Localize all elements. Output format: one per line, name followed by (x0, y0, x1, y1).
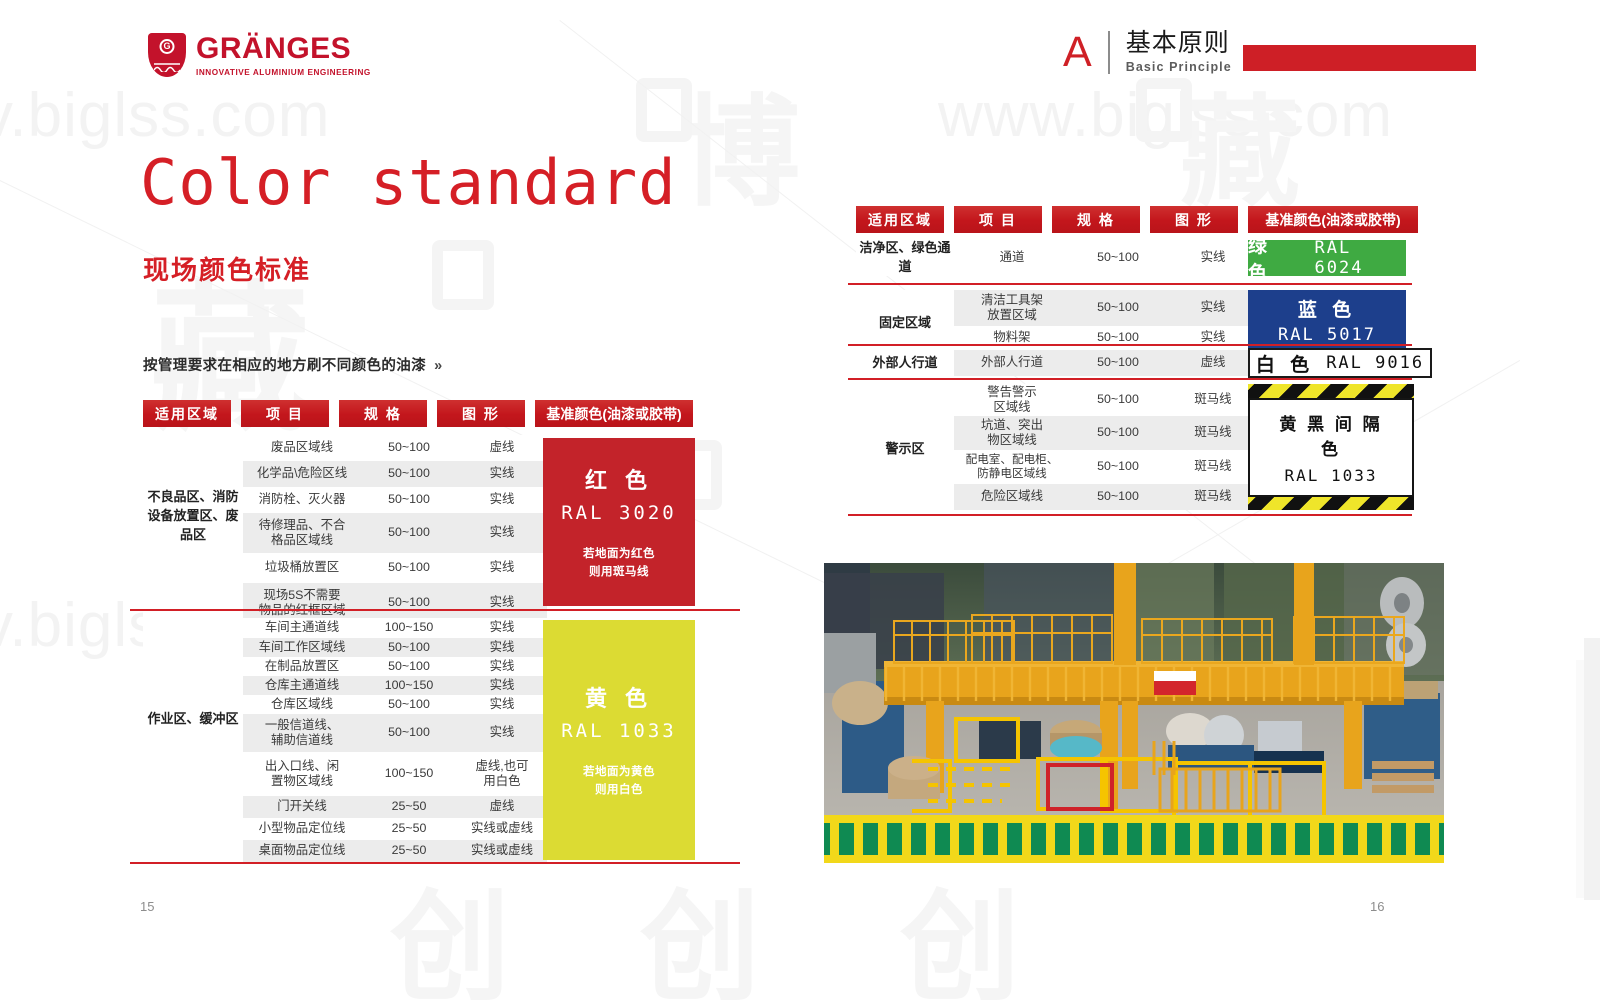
section-divider-blue (848, 344, 1412, 346)
swatch-name: 红 色 (585, 463, 653, 495)
header-color: 基准颜色(油漆或胶带) (535, 400, 693, 427)
cell-spec: 50~100 (1070, 450, 1166, 484)
cell-item: 通道 (954, 240, 1070, 276)
shield-icon: G (148, 33, 186, 77)
cell-item: 现场5S不需要 物品的红框区域 (243, 583, 361, 623)
cell-spec: 50~100 (361, 513, 457, 553)
color-swatch-red: 红 色 RAL 3020 若地面为红色 则用斑马线 (543, 438, 695, 606)
section-divider-green (848, 283, 1412, 285)
cell-spec: 25~50 (361, 796, 457, 818)
hazard-label-box: 黄 黑 间 隔 色 RAL 1033 (1248, 398, 1414, 497)
section-title-en: Basic Principle (1126, 60, 1232, 74)
section-area-label-yellow: 作业区、缓冲区 (143, 710, 243, 729)
cell-item: 出入口线、闲 置物区域线 (243, 752, 361, 796)
logo-tagline: INNOVATIVE ALUMINIUM ENGINEERING (196, 68, 371, 77)
cell-shape: 实线 (457, 513, 547, 553)
section-divider-hazard (848, 514, 1412, 516)
cell-spec: 50~100 (361, 695, 457, 714)
cell-area (143, 796, 243, 818)
cell-area: 外部人行道 (856, 350, 954, 376)
cell-item: 桌面物品定位线 (243, 840, 361, 862)
brochure-spread: v.biglss.com www.biglss.com v.biglss.com… (0, 0, 1600, 1000)
cell-item: 垃圾桶放置区 (243, 553, 361, 583)
cell-area (143, 752, 243, 796)
cell-spec: 50~100 (361, 553, 457, 583)
cell-shape: 实线 (457, 618, 547, 638)
section-header: A 基本原则 Basic Principle (1063, 30, 1232, 74)
cell-spec: 25~50 (361, 818, 457, 840)
cell-area (143, 657, 243, 676)
table-row: 小型物品定位线 25~50 实线或虚线 (143, 818, 547, 840)
cell-item: 物料架 (954, 326, 1070, 350)
table-section-yellow: 车间主通道线 100~150 实线 车间工作区域线 50~100 实线 在制品放… (143, 618, 547, 862)
header-divider (1108, 31, 1110, 74)
chevron-right-icon: » (434, 358, 442, 374)
header-area: 适用区域 (143, 400, 231, 427)
cell-spec: 25~50 (361, 840, 457, 862)
cell-spec: 50~100 (1070, 290, 1166, 326)
swatch-ral: RAL 5017 (1278, 325, 1376, 345)
brand-logo: G GRÄNGES INNOVATIVE ALUMINIUM ENGINEERI… (148, 33, 371, 77)
cell-item: 在制品放置区 (243, 657, 361, 676)
table-section-green: 洁净区、绿色通道 通道 50~100 实线 (856, 240, 1260, 276)
cell-area: 洁净区、绿色通道 (856, 240, 954, 276)
left-table-header: 适用区域 项 目 规 格 图 形 基准颜色(油漆或胶带) (143, 400, 693, 427)
cell-item: 警告警示 区域线 (954, 384, 1070, 416)
header-shape: 图 形 (437, 400, 525, 427)
header-spec: 规 格 (1052, 206, 1140, 233)
cell-area (143, 461, 243, 487)
caption-text: 按管理要求在相应的地方刷不同颜色的油漆 (143, 358, 426, 374)
cell-item: 门开关线 (243, 796, 361, 818)
swatch-ral: RAL 3020 (561, 502, 677, 524)
cell-shape: 虚线,也可 用白色 (457, 752, 547, 796)
table-row: 现场5S不需要 物品的红框区域 50~100 实线 (143, 583, 547, 623)
page-edge-strip-2 (1576, 660, 1584, 898)
cell-shape: 实线 (1166, 290, 1260, 326)
section-letter: A (1063, 31, 1092, 74)
cell-area (143, 676, 243, 695)
swatch-name: 黄 黑 间 隔 色 (1268, 410, 1394, 460)
section-divider-white (848, 378, 1412, 380)
wave-icon (154, 59, 180, 69)
table-row: 化学品\危险区线 50~100 实线 (143, 461, 547, 487)
cell-spec: 50~100 (361, 657, 457, 676)
table-row: 洁净区、绿色通道 通道 50~100 实线 (856, 240, 1260, 276)
table-row: 垃圾桶放置区 50~100 实线 (143, 553, 547, 583)
header-spec: 规 格 (339, 400, 427, 427)
factory-photo-illustration (824, 563, 1444, 863)
cell-spec: 50~100 (361, 638, 457, 657)
table-section-white: 外部人行道 外部人行道 50~100 虚线 (856, 350, 1260, 376)
cell-shape: 实线 (457, 487, 547, 513)
swatch-name: 绿 色 (1248, 231, 1302, 285)
cell-area (143, 840, 243, 862)
cell-shape: 实线 (457, 695, 547, 714)
cell-spec: 50~100 (1070, 240, 1166, 276)
swatch-name: 蓝 色 (1298, 295, 1356, 322)
swatch-name: 白 色 (1256, 350, 1314, 377)
factory-photo (824, 563, 1444, 863)
header-item: 项 目 (954, 206, 1042, 233)
color-swatch-white: 白 色 RAL 9016 (1248, 348, 1432, 378)
table-row: 车间主通道线 100~150 实线 (143, 618, 547, 638)
cell-spec: 100~150 (361, 618, 457, 638)
cell-item: 废品区域线 (243, 435, 361, 461)
cell-item: 小型物品定位线 (243, 818, 361, 840)
cell-spec: 50~100 (1070, 484, 1166, 510)
cell-shape: 实线或虚线 (457, 840, 547, 862)
section-area-label-red: 不良品区、消防设备放置区、废品区 (143, 488, 243, 545)
color-swatch-green: 绿 色 RAL 6024 (1248, 240, 1406, 276)
color-swatch-yellow: 黄 色 RAL 1033 若地面为黄色 则用白色 (543, 620, 695, 860)
table-row: 车间工作区域线 50~100 实线 (143, 638, 547, 657)
cell-spec: 50~100 (361, 583, 457, 623)
cell-area (143, 618, 243, 638)
swatch-ral: RAL 6024 (1314, 238, 1406, 278)
cell-area (143, 553, 243, 583)
cell-spec: 50~100 (1070, 350, 1166, 376)
cell-shape: 虚线 (457, 796, 547, 818)
swatch-name: 黄 色 (585, 681, 653, 713)
section-area-label-hazard: 警示区 (856, 438, 954, 457)
cell-spec: 100~150 (361, 676, 457, 695)
section-divider-2 (130, 862, 740, 864)
header-accent-bar (1243, 45, 1476, 71)
cell-spec: 50~100 (1070, 326, 1166, 350)
cell-item: 坑道、突出 物区域线 (954, 416, 1070, 450)
table-row: 仓库主通道线 100~150 实线 (143, 676, 547, 695)
header-item: 项 目 (241, 400, 329, 427)
cell-area (856, 384, 954, 416)
cell-shape: 斑马线 (1166, 416, 1260, 450)
swatch-note: 若地面为黄色 则用白色 (583, 764, 655, 800)
cell-shape: 实线 (457, 676, 547, 695)
section-title-cn: 基本原则 (1126, 30, 1232, 56)
table-row: 废品区域线 50~100 虚线 (143, 435, 547, 461)
table-row: 警告警示 区域线 50~100 斑马线 (856, 384, 1260, 416)
cell-area (143, 435, 243, 461)
table-row: 桌面物品定位线 25~50 实线或虚线 (143, 840, 547, 862)
cell-spec: 50~100 (361, 714, 457, 752)
page-edge-strip (1584, 638, 1600, 900)
cell-shape: 实线 (457, 657, 547, 676)
cell-item: 配电室、配电柜、 防静电区域线 (954, 450, 1070, 484)
cell-shape: 斑马线 (1166, 384, 1260, 416)
page-subtitle: 现场颜色标准 (143, 250, 311, 287)
left-page: G GRÄNGES INNOVATIVE ALUMINIUM ENGINEERI… (0, 0, 800, 1000)
cell-area (143, 638, 243, 657)
swatch-ral: RAL 1033 (1268, 466, 1394, 485)
cell-shape: 斑马线 (1166, 450, 1260, 484)
cell-area (143, 818, 243, 840)
color-swatch-hazard: 黄 黑 间 隔 色 RAL 1033 (1248, 384, 1414, 510)
cell-area (143, 583, 243, 623)
cell-item: 化学品\危险区线 (243, 461, 361, 487)
logo-name: GRÄNGES (196, 34, 371, 64)
cell-spec: 50~100 (361, 487, 457, 513)
instruction-caption: 按管理要求在相应的地方刷不同颜色的油漆» (143, 354, 443, 375)
header-area: 适用区域 (856, 206, 944, 233)
cell-item: 车间主通道线 (243, 618, 361, 638)
swatch-note: 若地面为红色 则用斑马线 (583, 546, 655, 582)
cell-shape: 实线 (457, 638, 547, 657)
page-title: Color standard (140, 152, 677, 214)
page-number-right: 16 (1370, 899, 1384, 914)
cell-spec: 50~100 (361, 435, 457, 461)
cell-spec: 50~100 (1070, 384, 1166, 416)
header-shape: 图 形 (1150, 206, 1238, 233)
logo-text: GRÄNGES INNOVATIVE ALUMINIUM ENGINEERING (196, 34, 371, 77)
table-row: 在制品放置区 50~100 实线 (143, 657, 547, 676)
table-row: 危险区域线 50~100 斑马线 (856, 484, 1260, 510)
cell-shape: 实线或虚线 (457, 818, 547, 840)
cell-item: 一般信道线、 辅助信道线 (243, 714, 361, 752)
header-color: 基准颜色(油漆或胶带) (1248, 206, 1418, 233)
cell-shape: 实线 (457, 583, 547, 623)
cell-shape: 虚线 (457, 435, 547, 461)
table-row: 外部人行道 外部人行道 50~100 虚线 (856, 350, 1260, 376)
cell-spec: 100~150 (361, 752, 457, 796)
cell-shape: 实线 (1166, 326, 1260, 350)
section-area-label-blue: 固定区域 (856, 312, 954, 331)
right-page: A 基本原则 Basic Principle 适用区域 项 目 规 格 图 形 … (800, 0, 1600, 1000)
right-table-header: 适用区域 项 目 规 格 图 形 基准颜色(油漆或胶带) (856, 206, 1418, 233)
cell-item: 仓库主通道线 (243, 676, 361, 695)
cell-item: 车间工作区域线 (243, 638, 361, 657)
cell-shape: 实线 (1166, 240, 1260, 276)
table-row: 出入口线、闲 置物区域线 100~150 虚线,也可 用白色 (143, 752, 547, 796)
cell-item: 仓库区域线 (243, 695, 361, 714)
cell-item: 外部人行道 (954, 350, 1070, 376)
cell-item: 待修理品、不合 格品区域线 (243, 513, 361, 553)
cell-shape: 实线 (457, 714, 547, 752)
section-divider-1 (130, 609, 740, 611)
page-number-left: 15 (140, 899, 154, 914)
swatch-ral: RAL 9016 (1326, 353, 1424, 373)
cell-shape: 斑马线 (1166, 484, 1260, 510)
cell-shape: 实线 (457, 461, 547, 487)
cell-item: 消防栓、灭火器 (243, 487, 361, 513)
cell-shape: 虚线 (1166, 350, 1260, 376)
color-swatch-blue: 蓝 色 RAL 5017 (1248, 290, 1406, 350)
swatch-ral: RAL 1033 (561, 720, 677, 742)
cell-item: 清洁工具架 放置区域 (954, 290, 1070, 326)
logo-letter: G (160, 39, 175, 54)
cell-item: 危险区域线 (954, 484, 1070, 510)
cell-area (856, 484, 954, 510)
cell-spec: 50~100 (1070, 416, 1166, 450)
cell-shape: 实线 (457, 553, 547, 583)
cell-spec: 50~100 (361, 461, 457, 487)
table-row: 门开关线 25~50 虚线 (143, 796, 547, 818)
